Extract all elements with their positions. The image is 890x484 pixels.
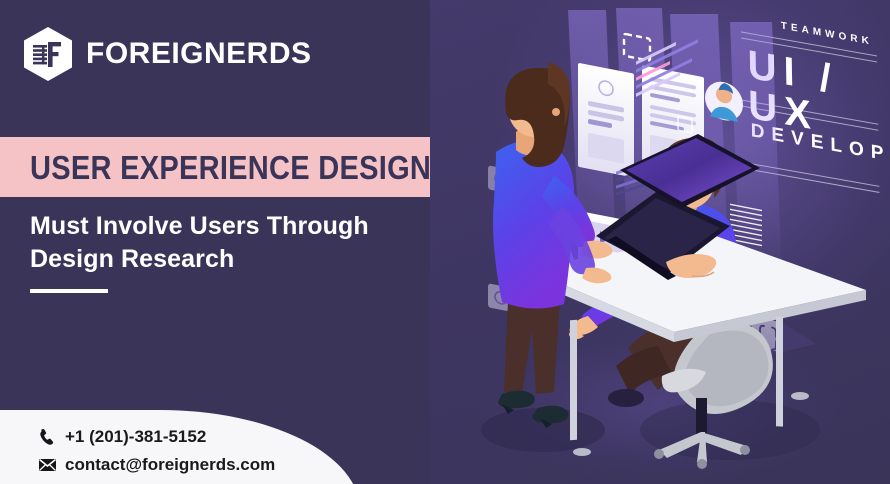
contact-email-row[interactable]: contact@foreignerds.com (38, 451, 275, 479)
phone-icon (38, 428, 57, 445)
accent-divider (30, 289, 108, 293)
envelope-icon (38, 456, 57, 473)
subtitle: Must Involve Users Through Design Resear… (30, 210, 430, 276)
page-title: USER EXPERIENCE DESIGN (30, 151, 431, 184)
email-address: contact@foreignerds.com (65, 451, 275, 479)
contact-details: +1 (201)-381-5152 contact@foreignerds.co… (38, 423, 275, 478)
marketing-banner: FOREIGNERDS USER EXPERIENCE DESIGN Must … (0, 0, 890, 484)
subtitle-line-2: Design Research (30, 243, 430, 276)
ux-team-workspace-illustration (430, 0, 890, 484)
foreignerds-hexagon-f-logo-icon (22, 26, 74, 82)
brand-logo[interactable]: FOREIGNERDS (22, 26, 312, 82)
phone-number: +1 (201)-381-5152 (65, 423, 206, 451)
title-band: USER EXPERIENCE DESIGN (0, 137, 430, 197)
brand-name: FOREIGNERDS (86, 39, 312, 69)
subtitle-line-1: Must Involve Users Through (30, 210, 430, 243)
contact-phone-row[interactable]: +1 (201)-381-5152 (38, 423, 275, 451)
